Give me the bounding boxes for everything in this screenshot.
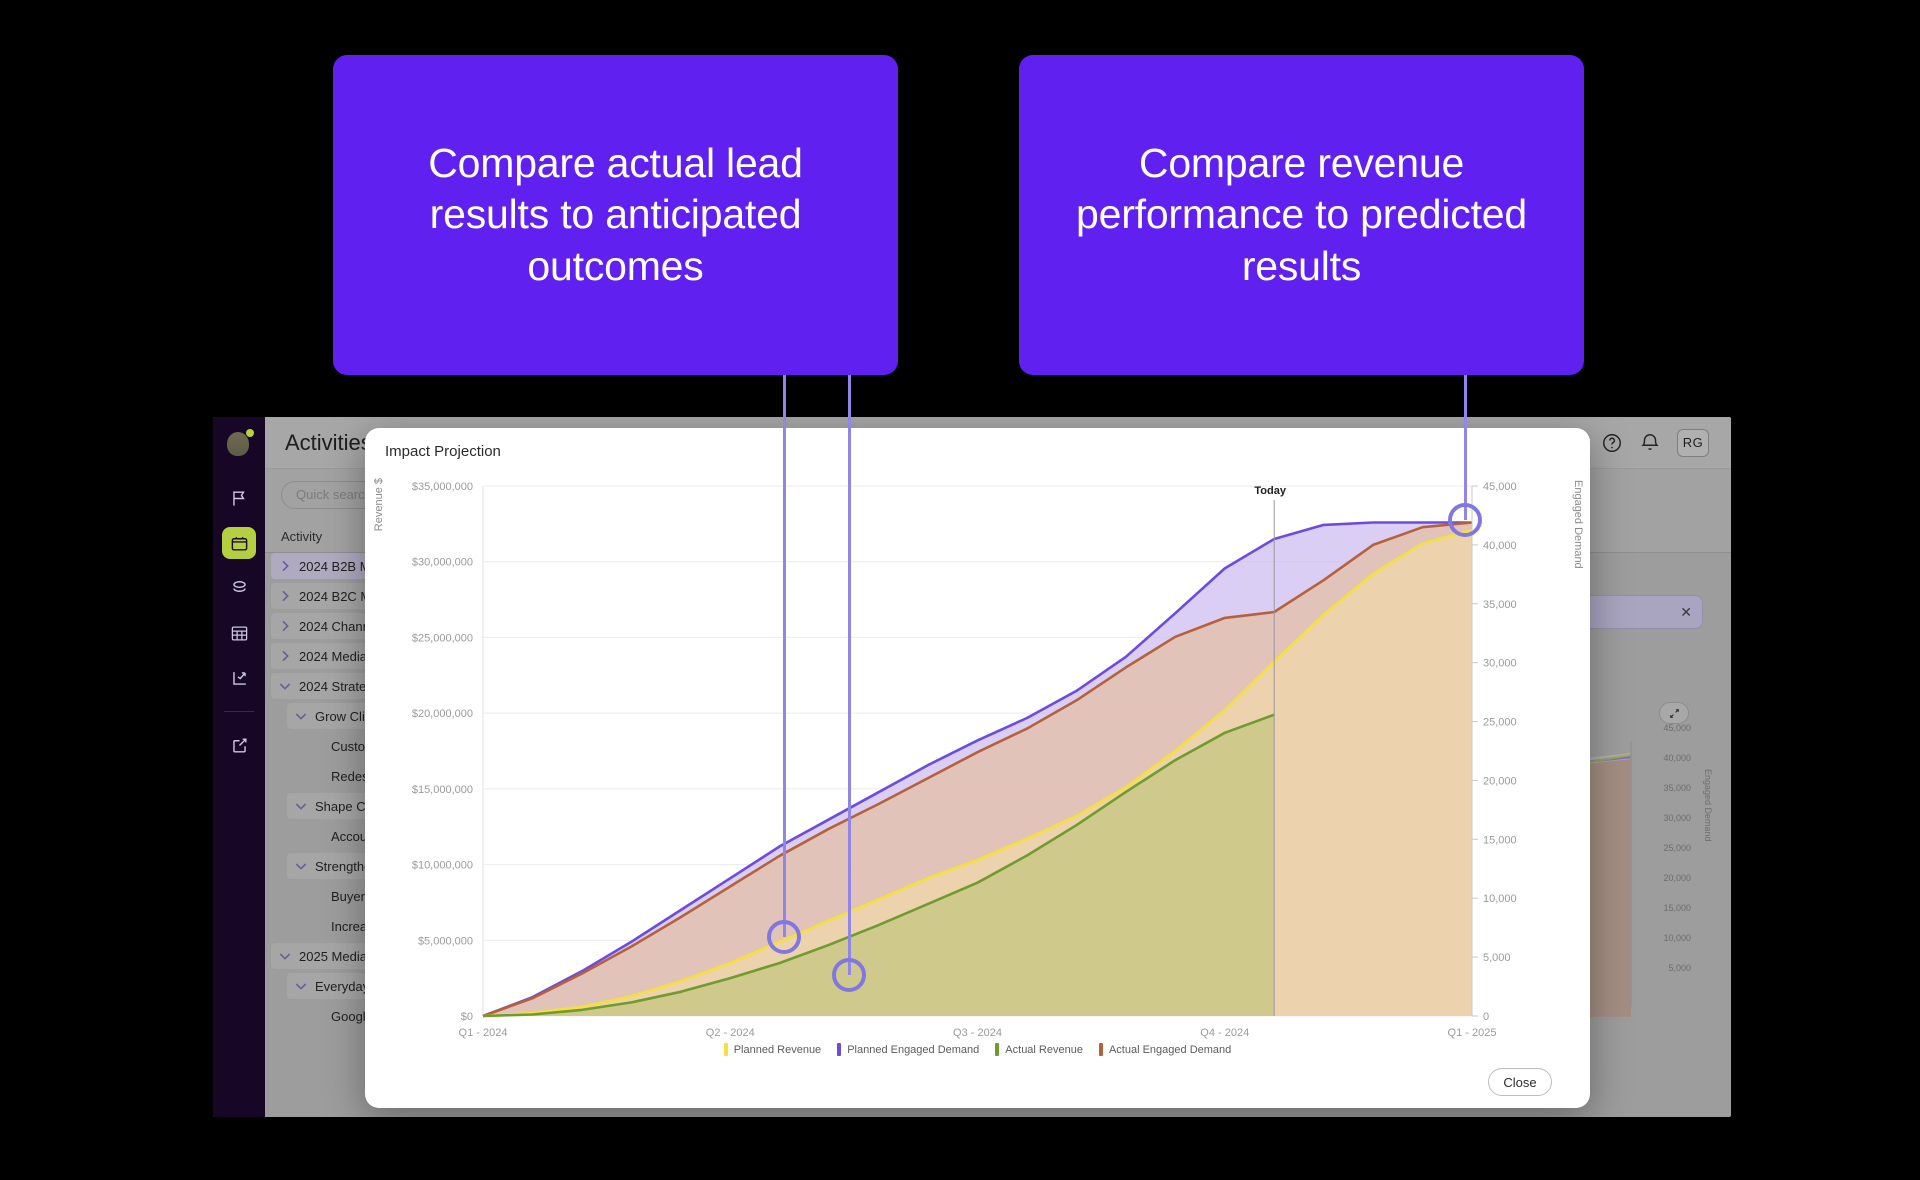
y-axis-left-tick: $25,000,000 <box>412 632 473 644</box>
callout-connector-1 <box>783 375 786 937</box>
mini-chart-tick: 35,000 <box>1663 783 1691 793</box>
mini-chart-axis-title: Engaged Demand <box>1703 769 1713 842</box>
x-axis-tick: Q3 - 2024 <box>953 1027 1002 1039</box>
y-axis-right-title: Engaged Demand <box>1572 480 1584 569</box>
mini-chart-tick: 20,000 <box>1663 873 1691 883</box>
external-link-icon[interactable] <box>222 729 256 761</box>
grid-icon[interactable] <box>222 617 256 649</box>
y-axis-left-title: Revenue $ <box>373 478 385 531</box>
y-axis-right-tick: 10,000 <box>1483 893 1517 905</box>
chart-marker-1 <box>767 920 801 954</box>
legend-item[interactable]: Actual Engaged Demand <box>1099 1043 1231 1056</box>
callout-connector-3 <box>1464 375 1467 520</box>
y-axis-right-ticks: 45,00040,00035,00030,00025,00020,00015,0… <box>1472 481 1517 1023</box>
legend-swatch <box>995 1043 999 1056</box>
y-axis-left-tick: $35,000,000 <box>412 481 473 493</box>
chevron-down-icon[interactable] <box>293 978 309 994</box>
y-axis-right-tick: 15,000 <box>1483 834 1517 846</box>
x-axis-tick: Q1 - 2024 <box>459 1027 508 1039</box>
legend-item[interactable]: Planned Revenue <box>724 1043 821 1056</box>
chart-marker-2 <box>832 958 866 992</box>
tree-row-label: Redes <box>331 769 369 784</box>
y-axis-right-tick: 0 <box>1483 1011 1489 1023</box>
modal-title: Impact Projection <box>385 443 501 460</box>
chevron-right-icon[interactable] <box>277 618 293 634</box>
legend-swatch <box>724 1043 728 1056</box>
y-axis-left-tick: $30,000,000 <box>412 557 473 569</box>
screenshot-root: Activities RG Quick search Activity 2024… <box>0 0 1920 1180</box>
close-icon[interactable]: ✕ <box>1680 604 1692 621</box>
tree-row-label: Increa <box>331 919 367 934</box>
y-axis-left-tick: $10,000,000 <box>412 860 473 872</box>
y-axis-left-tick: $20,000,000 <box>412 708 473 720</box>
legend-label: Planned Revenue <box>734 1044 821 1056</box>
chevron-right-icon[interactable] <box>277 648 293 664</box>
callout-compare-leads: Compare actual lead results to anticipat… <box>333 55 898 375</box>
analytics-icon[interactable] <box>222 662 256 694</box>
impact-projection-modal: Impact Projection Today $35,000,000$30,0… <box>365 428 1590 1108</box>
y-axis-left-tick: $15,000,000 <box>412 784 473 796</box>
y-axis-right-tick: 5,000 <box>1483 952 1511 964</box>
mini-chart-tick: 40,000 <box>1663 753 1691 763</box>
mini-chart-tick: 5,000 <box>1668 963 1691 973</box>
briefcase-icon[interactable] <box>222 527 256 559</box>
mini-chart-tick: 45,000 <box>1663 723 1691 733</box>
tree-spacer[interactable] <box>309 828 325 844</box>
mini-chart-tick: 25,000 <box>1663 843 1691 853</box>
app-logo <box>224 429 254 459</box>
bell-icon[interactable] <box>1639 432 1661 454</box>
callout-compare-revenue: Compare revenue performance to predicted… <box>1019 55 1584 375</box>
tree-spacer[interactable] <box>309 888 325 904</box>
avatar[interactable]: RG <box>1677 429 1709 457</box>
y-axis-right-tick: 35,000 <box>1483 599 1517 611</box>
help-icon[interactable] <box>1601 432 1623 454</box>
chart-marker-3 <box>1448 503 1482 537</box>
y-axis-right-tick: 30,000 <box>1483 658 1517 670</box>
mini-chart-tick: 30,000 <box>1663 813 1691 823</box>
chevron-down-icon[interactable] <box>293 798 309 814</box>
legend-item[interactable]: Planned Engaged Demand <box>837 1043 979 1056</box>
global-nav-rail <box>213 417 265 1117</box>
callout-connector-2 <box>848 375 851 975</box>
x-axis-ticks: Q1 - 2024Q2 - 2024Q3 - 2024Q4 - 2024Q1 -… <box>459 1027 1497 1039</box>
chart-area: Today $35,000,000$30,000,000$25,000,000$… <box>365 468 1590 1068</box>
chart-legend: Planned RevenuePlanned Engaged DemandAct… <box>365 1043 1590 1056</box>
chart-series-areas <box>483 523 1472 1017</box>
y-axis-right-tick: 45,000 <box>1483 481 1517 493</box>
mini-chart-tick: 15,000 <box>1663 903 1691 913</box>
tree-spacer[interactable] <box>309 1008 325 1024</box>
close-button[interactable]: Close <box>1488 1068 1552 1096</box>
chevron-down-icon[interactable] <box>293 858 309 874</box>
layers-icon[interactable] <box>222 572 256 604</box>
tree-row-label: Strengthe <box>315 859 371 874</box>
y-axis-right-tick: 40,000 <box>1483 540 1517 552</box>
header-actions: RG <box>1601 429 1709 457</box>
tree-row-label: Googl <box>331 1009 366 1024</box>
tree-row-label: Grow Clie <box>315 709 372 724</box>
x-axis-tick: Q2 - 2024 <box>706 1027 755 1039</box>
x-axis-tick: Q1 - 2025 <box>1448 1027 1497 1039</box>
chevron-right-icon[interactable] <box>277 558 293 574</box>
page-title: Activities <box>285 430 372 456</box>
mini-chart-tick: 10,000 <box>1663 933 1691 943</box>
legend-item[interactable]: Actual Revenue <box>995 1043 1083 1056</box>
chevron-down-icon[interactable] <box>293 708 309 724</box>
chevron-down-icon[interactable] <box>277 948 293 964</box>
legend-swatch <box>1099 1043 1103 1056</box>
flag-icon[interactable] <box>222 482 256 514</box>
tree-spacer[interactable] <box>309 768 325 784</box>
y-axis-left-tick: $0 <box>461 1011 473 1023</box>
tree-row-label: Buyer <box>331 889 365 904</box>
chevron-down-icon[interactable] <box>277 678 293 694</box>
rail-divider <box>224 711 254 712</box>
legend-label: Planned Engaged Demand <box>847 1044 979 1056</box>
tree-spacer[interactable] <box>309 918 325 934</box>
tree-row-label: Accou <box>331 829 367 844</box>
legend-label: Actual Engaged Demand <box>1109 1044 1231 1056</box>
chevron-right-icon[interactable] <box>277 588 293 604</box>
column-header-activity: Activity <box>281 529 322 544</box>
legend-label: Actual Revenue <box>1005 1044 1083 1056</box>
today-label: Today <box>1254 485 1286 497</box>
y-axis-left-ticks: $35,000,000$30,000,000$25,000,000$20,000… <box>412 481 473 1023</box>
y-axis-left-tick: $5,000,000 <box>418 935 473 947</box>
tree-spacer[interactable] <box>309 738 325 754</box>
x-axis-tick: Q4 - 2024 <box>1200 1027 1249 1039</box>
y-axis-right-tick: 20,000 <box>1483 775 1517 787</box>
impact-projection-chart: Today $35,000,000$30,000,000$25,000,000$… <box>365 468 1590 1068</box>
tree-row-label: Everyday <box>315 979 369 994</box>
y-axis-right-tick: 25,000 <box>1483 717 1517 729</box>
legend-swatch <box>837 1043 841 1056</box>
